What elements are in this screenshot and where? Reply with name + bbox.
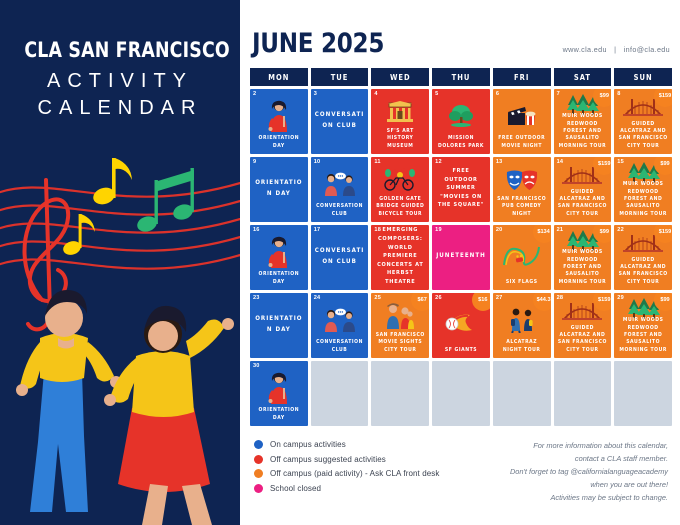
activity-label: CONVERSATION CLUB bbox=[313, 339, 367, 354]
day-number: 27 bbox=[496, 295, 503, 301]
brand-block: CLA SAN FRANCISCO ACTIVITY CALENDAR bbox=[0, 0, 240, 120]
calendar-cell-day-24[interactable]: 24CONVERSATION CLUB bbox=[311, 293, 369, 358]
calendar-cell-day-13[interactable]: 13SAN FRANCISCO PUB COMEDY NIGHT bbox=[493, 157, 551, 222]
calendar-cell-empty bbox=[432, 361, 490, 426]
calendar-cell-day-16[interactable]: 16ORIENTATION DAY bbox=[250, 225, 308, 290]
calendar-cell-day-18[interactable]: 18EMERGING COMPOSERS: WORLD PREMIERE CON… bbox=[371, 225, 429, 290]
activity-label: MUIR WOODS REDWOOD FOREST AND SAUSALITO … bbox=[616, 181, 670, 218]
legend-item: Off campus (paid activity) - Ask CLA fro… bbox=[254, 469, 440, 478]
legend-label: Off campus (paid activity) - Ask CLA fro… bbox=[270, 469, 440, 478]
activity-label: SIX FLAGS bbox=[495, 279, 549, 286]
activity-label: SAN FRANCISCO PUB COMEDY NIGHT bbox=[495, 196, 549, 218]
activity-label: GUIDED ALCATRAZ AND SAN FRANCISCO CITY T… bbox=[556, 189, 610, 219]
day-number: 11 bbox=[374, 159, 380, 165]
calendar-cell-day-9[interactable]: 9ORIENTATION DAY bbox=[250, 157, 308, 222]
price-badge: $67 bbox=[411, 293, 429, 311]
activity-label: ORIENTATION DAY bbox=[252, 407, 306, 422]
calendar-cell-day-15[interactable]: 15$99MUIR WOODS REDWOOD FOREST AND SAUSA… bbox=[614, 157, 672, 222]
day-number: 21 bbox=[557, 227, 564, 233]
calendar-cell-day-25[interactable]: 25$67SAN FRANCISCO MOVIE SIGHTS CITY TOU… bbox=[371, 293, 429, 358]
calendar-cell-day-28[interactable]: 28$159GUIDED ALCATRAZ AND SAN FRANCISCO … bbox=[554, 293, 612, 358]
legend: On campus activitiesOff campus suggested… bbox=[254, 438, 440, 505]
bikes-icon bbox=[373, 159, 427, 196]
price-badge: $99 bbox=[593, 225, 611, 243]
activity-label: ORIENTATION DAY bbox=[252, 178, 306, 199]
branding-panel: CLA SAN FRANCISCO ACTIVITY CALENDAR bbox=[0, 0, 240, 525]
calendar-panel: JUNE 2025 www.cla.edu | info@cla.edu MON… bbox=[240, 0, 680, 525]
person-red-icon bbox=[252, 227, 306, 271]
calendar-footer: On campus activitiesOff campus suggested… bbox=[250, 438, 672, 505]
day-number: 10 bbox=[314, 159, 321, 165]
activity-label: GUIDED ALCATRAZ AND SAN FRANCISCO CITY T… bbox=[616, 257, 670, 287]
museum-icon bbox=[373, 91, 427, 128]
legend-item: On campus activities bbox=[254, 440, 440, 449]
activity-label: MUIR WOODS REDWOOD FOREST AND SAUSALITO … bbox=[556, 249, 610, 286]
day-number: 25 bbox=[374, 295, 381, 301]
legend-color-dot bbox=[254, 455, 263, 464]
calendar-cell-day-14[interactable]: 14$159GUIDED ALCATRAZ AND SAN FRANCISCO … bbox=[554, 157, 612, 222]
activity-label: GOLDEN GATE BRIDGE GUIDED BICYCLE TOUR bbox=[373, 196, 427, 218]
person-red-icon bbox=[252, 91, 306, 135]
activity-label: MUIR WOODS REDWOOD FOREST AND SAUSALITO … bbox=[616, 317, 670, 354]
calendar-cell-day-21[interactable]: 21$99MUIR WOODS REDWOOD FOREST AND SAUSA… bbox=[554, 225, 612, 290]
activity-label: ALCATRAZ NIGHT TOUR bbox=[495, 339, 549, 354]
day-number: 18 bbox=[374, 227, 381, 233]
calendar-cell-day-27[interactable]: 27$44.3ALCATRAZ NIGHT TOUR bbox=[493, 293, 551, 358]
calendar-cell-day-11[interactable]: 11GOLDEN GATE BRIDGE GUIDED BICYCLE TOUR bbox=[371, 157, 429, 222]
calendar-cell-day-22[interactable]: 22$159GUIDED ALCATRAZ AND SAN FRANCISCO … bbox=[614, 225, 672, 290]
footer-note-line: For more information about this calendar… bbox=[510, 440, 668, 453]
weekday-header-sat: SAT bbox=[554, 68, 612, 86]
day-number: 16 bbox=[253, 227, 260, 233]
clapper-icon bbox=[495, 91, 549, 135]
day-number: 6 bbox=[496, 91, 499, 97]
tree-icon bbox=[434, 91, 488, 135]
footer-note-line: when you are out there! bbox=[510, 479, 668, 492]
activity-label: MUIR WOODS REDWOOD FOREST AND SAUSALITO … bbox=[556, 113, 610, 150]
day-number: 17 bbox=[314, 227, 321, 233]
activity-label: ORIENTATION DAY bbox=[252, 135, 306, 150]
price-badge: $159 bbox=[593, 157, 611, 175]
day-number: 26 bbox=[435, 295, 442, 301]
weekday-header-tue: TUE bbox=[311, 68, 369, 86]
day-number: 8 bbox=[617, 91, 620, 97]
legend-label: School closed bbox=[270, 484, 321, 493]
calendar-cell-day-8[interactable]: 8$159GUIDED ALCATRAZ AND SAN FRANCISCO C… bbox=[614, 89, 672, 154]
calendar-page: CLA SAN FRANCISCO ACTIVITY CALENDAR JUNE… bbox=[0, 0, 680, 525]
activity-label: CONVERSATION CLUB bbox=[313, 203, 367, 218]
calendar-cell-empty bbox=[371, 361, 429, 426]
weekday-header-thu: THU bbox=[432, 68, 490, 86]
calendar-cell-day-17[interactable]: 17CONVERSATION CLUB bbox=[311, 225, 369, 290]
calendar-cell-day-10[interactable]: 10CONVERSATION CLUB bbox=[311, 157, 369, 222]
day-number: 22 bbox=[617, 227, 624, 233]
legend-color-dot bbox=[254, 484, 263, 493]
day-number: 2 bbox=[253, 91, 256, 97]
activity-label: CONVERSATION CLUB bbox=[313, 246, 367, 267]
calendar-cell-day-6[interactable]: 6FREE OUTDOOR MOVIE NIGHT bbox=[493, 89, 551, 154]
website-link[interactable]: www.cla.edu bbox=[563, 45, 607, 54]
activity-label: SF GIANTS bbox=[434, 347, 488, 354]
activity-label: GUIDED ALCATRAZ AND SAN FRANCISCO CITY T… bbox=[616, 121, 670, 151]
day-number: 15 bbox=[617, 159, 624, 165]
activity-label: FREE OUTDOOR MOVIE NIGHT bbox=[495, 135, 549, 150]
calendar-cell-day-26[interactable]: 26$16SF GIANTS bbox=[432, 293, 490, 358]
legend-item: Off campus suggested activities bbox=[254, 455, 440, 464]
activity-label: EMERGING COMPOSERS: WORLD PREMIERE CONCE… bbox=[373, 226, 427, 287]
day-number: 29 bbox=[617, 295, 624, 301]
calendar-cell-day-29[interactable]: 29$99MUIR WOODS REDWOOD FOREST AND SAUSA… bbox=[614, 293, 672, 358]
calendar-cell-day-19[interactable]: 19JUNETEENTH bbox=[432, 225, 490, 290]
activity-label: FREE OUTDOOR SUMMER "MOVIES ON THE SQUAR… bbox=[434, 167, 488, 210]
day-number: 20 bbox=[496, 227, 503, 233]
day-number: 28 bbox=[557, 295, 564, 301]
price-badge: $99 bbox=[593, 89, 611, 107]
activity-label: JUNETEENTH bbox=[434, 251, 488, 262]
legend-color-dot bbox=[254, 469, 263, 478]
contact-info: www.cla.edu | info@cla.edu bbox=[563, 45, 670, 59]
day-number: 9 bbox=[253, 159, 256, 165]
activity-label: SAN FRANCISCO MOVIE SIGHTS CITY TOUR bbox=[373, 332, 427, 354]
day-number: 24 bbox=[314, 295, 321, 301]
calendar-cell-empty bbox=[493, 361, 551, 426]
activity-label: CONVERSATION CLUB bbox=[313, 110, 367, 131]
talk-icon bbox=[313, 295, 367, 339]
legend-item: School closed bbox=[254, 484, 440, 493]
calendar-cell-day-4[interactable]: 4SF'S ART HISTORY MUSEUM bbox=[371, 89, 429, 154]
legend-label: On campus activities bbox=[270, 440, 346, 449]
calendar-cell-day-7[interactable]: 7$99MUIR WOODS REDWOOD FOREST AND SAUSAL… bbox=[554, 89, 612, 154]
day-number: 14 bbox=[557, 159, 564, 165]
email-link[interactable]: info@cla.edu bbox=[624, 45, 670, 54]
weekday-header-fri: FRI bbox=[493, 68, 551, 86]
calendar-cell-empty bbox=[614, 361, 672, 426]
activity-label: ORIENTATION DAY bbox=[252, 271, 306, 286]
activity-label: SF'S ART HISTORY MUSEUM bbox=[373, 128, 427, 150]
calendar-cell-day-5[interactable]: 5MISSION DOLORES PARK bbox=[432, 89, 490, 154]
day-number: 7 bbox=[557, 91, 560, 97]
activity-label: MISSION DOLORES PARK bbox=[434, 135, 488, 150]
weekday-header-sun: SUN bbox=[614, 68, 672, 86]
brand-title-line1: CLA SAN FRANCISCO bbox=[24, 38, 215, 62]
month-title: JUNE 2025 bbox=[252, 28, 384, 59]
day-number: 13 bbox=[496, 159, 503, 165]
day-number: 23 bbox=[253, 295, 260, 301]
calendar-cell-empty bbox=[554, 361, 612, 426]
calendar-cell-day-2[interactable]: 2ORIENTATION DAY bbox=[250, 89, 308, 154]
talk-icon bbox=[313, 159, 367, 203]
person-red-icon bbox=[252, 363, 306, 407]
contact-separator: | bbox=[609, 45, 621, 54]
calendar-cell-day-3[interactable]: 3CONVERSATION CLUB bbox=[311, 89, 369, 154]
masks-icon bbox=[495, 159, 549, 196]
day-number: 5 bbox=[435, 91, 438, 97]
legend-label: Off campus suggested activities bbox=[270, 455, 386, 464]
activity-label: ORIENTATION DAY bbox=[252, 314, 306, 335]
calendar-grid: MONTUEWEDTHUFRISATSUN2ORIENTATION DAY3CO… bbox=[250, 68, 672, 426]
brand-title-line2: ACTIVITY bbox=[16, 70, 224, 93]
calendar-cell-day-30[interactable]: 30ORIENTATION DAY bbox=[250, 361, 308, 426]
calendar-cell-day-20[interactable]: 20$134SIX FLAGS bbox=[493, 225, 551, 290]
calendar-cell-day-23[interactable]: 23ORIENTATION DAY bbox=[250, 293, 308, 358]
footer-note-line: contact a CLA staff member. bbox=[510, 453, 668, 466]
activity-label: GUIDED ALCATRAZ AND SAN FRANCISCO CITY T… bbox=[556, 325, 610, 355]
day-number: 12 bbox=[435, 159, 442, 165]
day-number: 19 bbox=[435, 227, 442, 233]
calendar-header: JUNE 2025 www.cla.edu | info@cla.edu bbox=[250, 28, 672, 59]
legend-color-dot bbox=[254, 440, 263, 449]
footer-note-line: Activities may be subject to change. bbox=[510, 492, 668, 505]
weekday-header-wed: WED bbox=[371, 68, 429, 86]
footer-notes: For more information about this calendar… bbox=[510, 438, 668, 505]
day-number: 4 bbox=[374, 91, 377, 97]
calendar-cell-day-12[interactable]: 12FREE OUTDOOR SUMMER "MOVIES ON THE SQU… bbox=[432, 157, 490, 222]
calendar-cell-empty bbox=[311, 361, 369, 426]
footer-note-line: Don't forget to tag @californialanguagea… bbox=[510, 466, 668, 479]
day-number: 3 bbox=[314, 91, 317, 97]
weekday-header-mon: MON bbox=[250, 68, 308, 86]
day-number: 30 bbox=[253, 363, 260, 369]
brand-title-line3: CALENDAR bbox=[16, 97, 224, 120]
price-badge: $159 bbox=[593, 293, 611, 311]
